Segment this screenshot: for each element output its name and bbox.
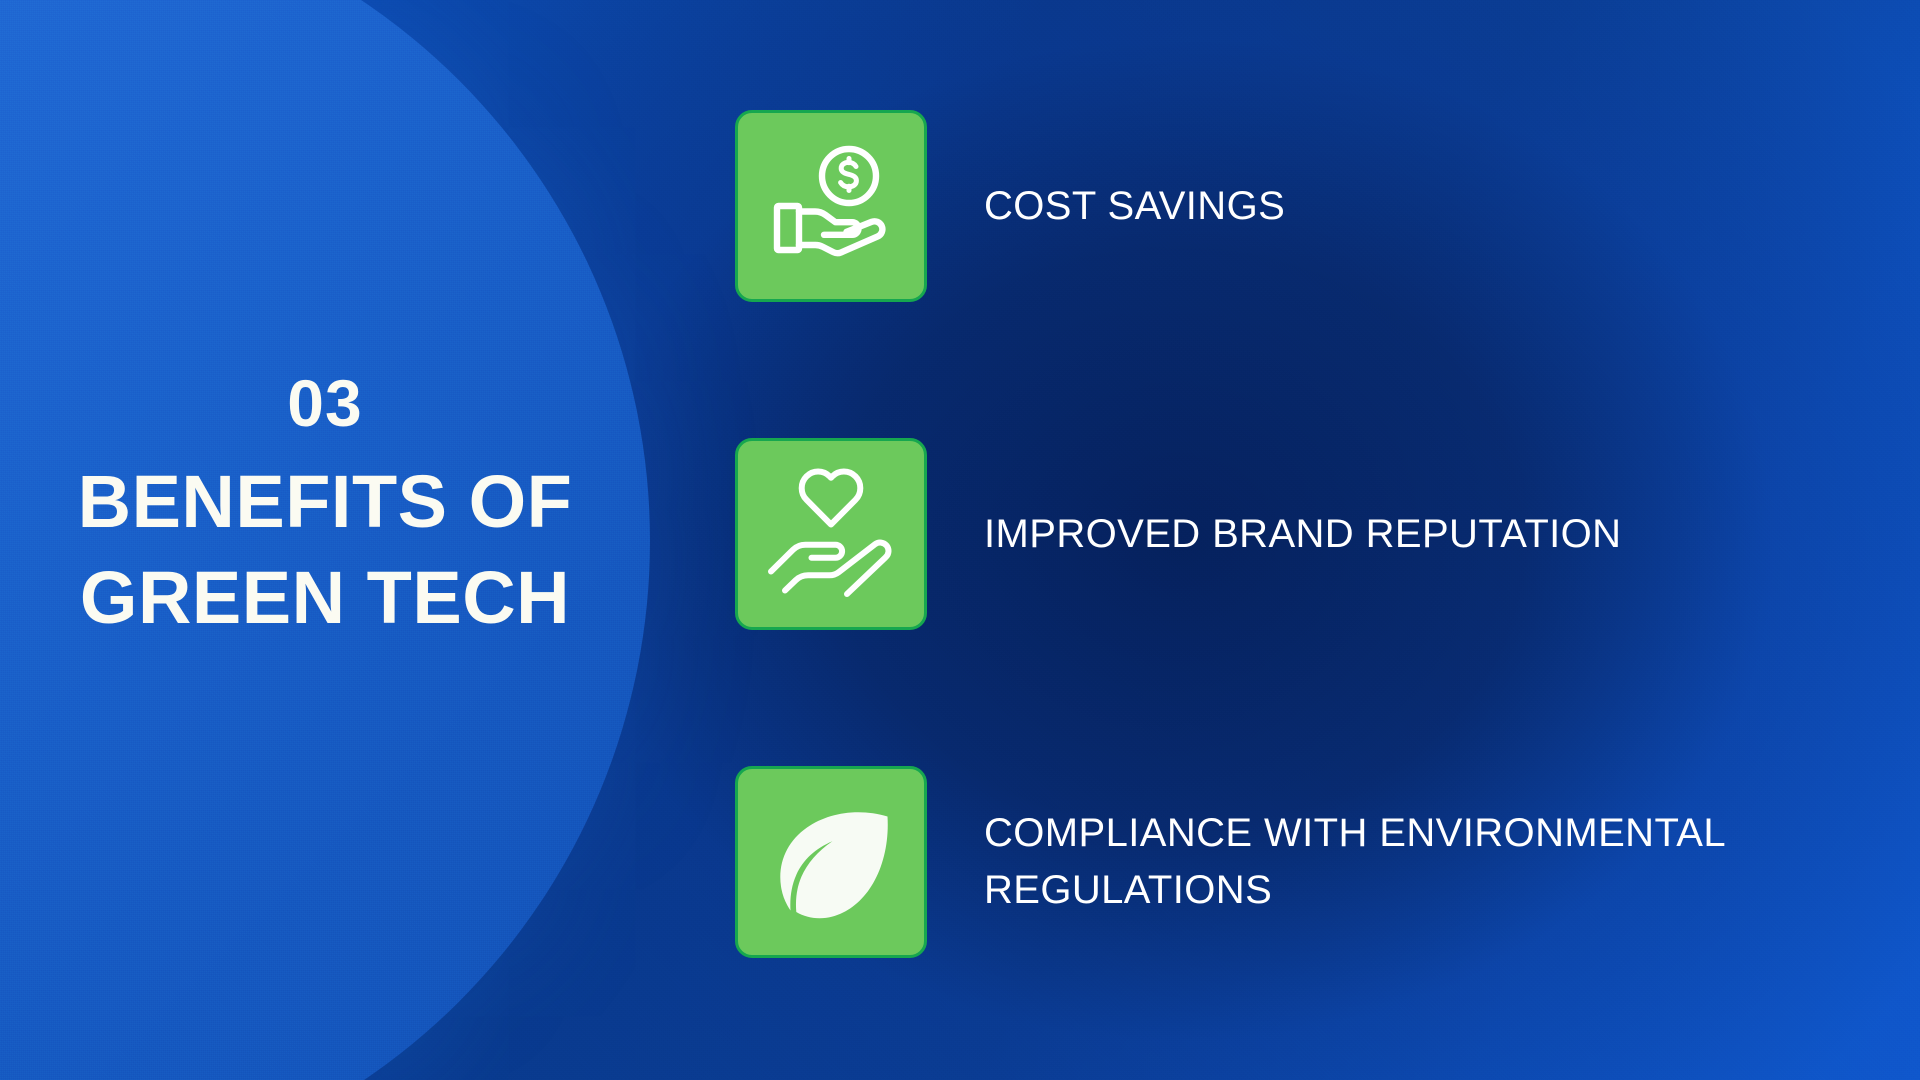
benefit-label: COMPLIANCE WITH ENVIRONMENTAL REGULATION…: [984, 805, 1726, 919]
benefits-list: COST SAVINGS IMPROVED BRAND REPUTATION: [735, 0, 1920, 1080]
benefit-label: IMPROVED BRAND REPUTATION: [984, 506, 1621, 563]
title-block: 03 BENEFITS OF GREEN TECH: [0, 370, 650, 646]
benefit-item-brand-reputation[interactable]: IMPROVED BRAND REPUTATION: [735, 438, 1920, 630]
benefit-icon-tile: [735, 438, 927, 630]
section-number: 03: [0, 370, 650, 436]
hand-holding-dollar-icon: [765, 140, 897, 272]
slide-benefits-of-green-tech: 03 BENEFITS OF GREEN TECH: [0, 0, 1920, 1080]
benefit-item-cost-savings[interactable]: COST SAVINGS: [735, 110, 1920, 302]
benefit-item-environmental-compliance[interactable]: COMPLIANCE WITH ENVIRONMENTAL REGULATION…: [735, 766, 1920, 958]
benefit-icon-tile: [735, 766, 927, 958]
hand-holding-heart-icon: [763, 466, 899, 602]
benefit-icon-tile: [735, 110, 927, 302]
page-title: BENEFITS OF GREEN TECH: [0, 454, 650, 646]
benefit-label: COST SAVINGS: [984, 178, 1285, 235]
leaf-icon: [767, 798, 895, 926]
